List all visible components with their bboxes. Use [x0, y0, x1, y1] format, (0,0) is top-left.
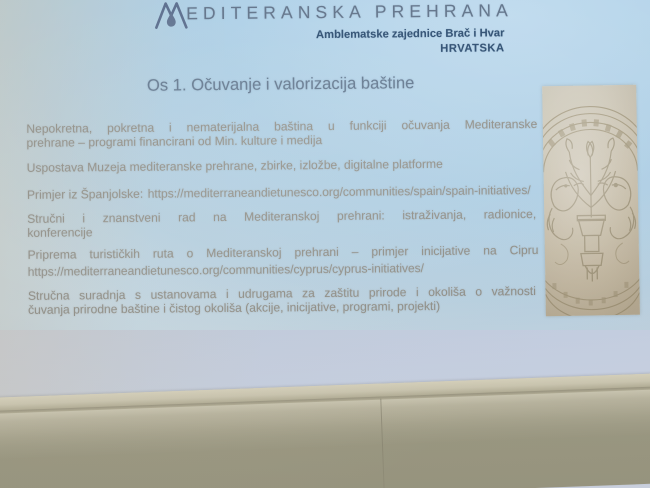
bullet-6-line-2: čuvanja prirodne baštine i čistog okoliš… [28, 299, 536, 317]
presentation-slide: EDITERANSKA PREHRANA Amblematske zajedni… [0, 0, 650, 349]
bullet-5: Priprema turističkih ruta o Mediteransko… [27, 244, 538, 280]
brand-wordmark: EDITERANSKA PREHRANA [186, 2, 513, 23]
bullet-4: Stručni i znanstveni rad na Mediteransko… [27, 208, 536, 240]
slide-body: Nepokretna, pokretna i nematerijalna baš… [26, 118, 539, 324]
slide-title: Os 1. Očuvanje i valorizacija baštine [147, 73, 415, 96]
mountain-droplet-logo-icon [154, 0, 188, 31]
bullet-3-line-1: Primjer iz Španjolske: [27, 187, 143, 202]
brand-subtitle-communities: Amblematske zajednice Brač i Hvar [316, 27, 505, 41]
brand-subtitle-country: HRVATSKA [440, 42, 504, 55]
projected-slide-photo: EDITERANSKA PREHRANA Amblematske zajedni… [0, 0, 650, 488]
bullet-2-line-1: Uspostava Muzeja mediteranske prehrane, … [27, 157, 443, 175]
bullet-5-url[interactable]: https://mediterraneandietunesco.org/comm… [28, 261, 424, 279]
bullet-2: Uspostava Muzeja mediteranske prehrane, … [27, 154, 538, 177]
bullet-3-url[interactable]: https://mediterraneandietunesco.org/comm… [148, 183, 531, 201]
bullet-6: Stručna suradnja s ustanovama i udrugama… [28, 285, 536, 317]
bullet-3: Primjer iz Španjolske: https://mediterra… [27, 181, 538, 204]
bullet-1: Nepokretna, pokretna i nematerijalna baš… [26, 118, 537, 150]
bullet-5-line-1: Priprema turističkih ruta o Mediteransko… [27, 244, 538, 262]
stone-relief-mosaic-image [542, 85, 640, 317]
slide-brand-header: EDITERANSKA PREHRANA Amblematske zajedni… [154, 0, 515, 64]
bullet-1-line-2: prehrane – programi financirani od Min. … [26, 132, 537, 150]
